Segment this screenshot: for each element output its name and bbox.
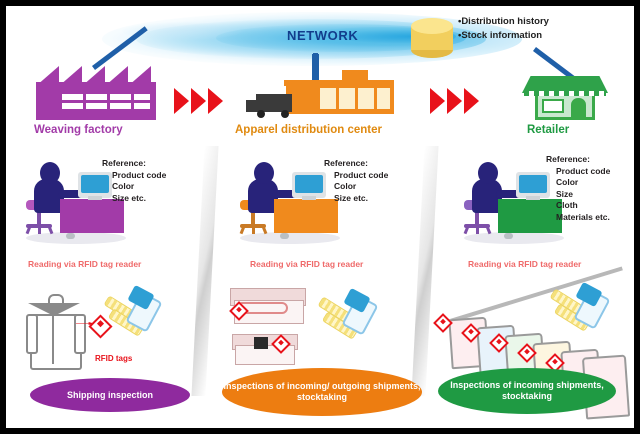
- network-note-1: •Stock information: [458, 29, 549, 43]
- reference-item: Color: [556, 177, 610, 189]
- database-cylinder-icon: [411, 18, 453, 56]
- pill-label: Inspections of incoming shipments, stock…: [438, 380, 616, 402]
- pill-inspections-incoming: Inspections of incoming shipments, stock…: [438, 368, 616, 414]
- image-frame: NETWORK •Distribution history •Stock inf…: [0, 0, 640, 434]
- node-label-weaving-factory: Weaving factory: [34, 124, 123, 136]
- rfid-reader-icon-1: [106, 289, 166, 339]
- reference-heading: Reference:: [324, 158, 388, 170]
- warehouse-truck-icon: [256, 66, 396, 121]
- reference-item: Size etc.: [112, 193, 166, 205]
- pill-label: Inspections of incoming/ outgoing shipme…: [222, 381, 422, 403]
- flow-arrows-1: [174, 88, 223, 114]
- pill-label: Shipping inspection: [67, 390, 153, 401]
- network-notes: •Distribution history •Stock information: [458, 15, 549, 43]
- rfid-reader-icon-2: [322, 292, 382, 342]
- network-label: NETWORK: [287, 28, 358, 43]
- column-divider-1: [191, 146, 218, 396]
- reference-item: Product code: [556, 166, 610, 178]
- reference-list-apparel-distribution-center: Reference: Product code Color Size etc.: [324, 158, 388, 204]
- diagram-canvas: NETWORK •Distribution history •Stock inf…: [6, 6, 634, 428]
- pill-inspections-incoming-outgoing: Inspections of incoming/ outgoing shipme…: [222, 368, 422, 416]
- network-note-0: •Distribution history: [458, 15, 549, 29]
- factory-icon: [36, 68, 156, 120]
- reading-label-retailer: Reading via RFID tag reader: [468, 259, 581, 269]
- pill-shipping-inspection: Shipping inspection: [30, 378, 190, 412]
- reading-label-weaving-factory: Reading via RFID tag reader: [28, 259, 141, 269]
- reference-list-weaving-factory: Reference: Product code Color Size etc.: [102, 158, 166, 204]
- reference-item: Size etc.: [334, 193, 388, 205]
- rfid-reader-icon-3: [554, 286, 614, 336]
- reference-heading: Reference:: [102, 158, 166, 170]
- reference-item: Product code: [112, 170, 166, 182]
- reference-item: Product code: [334, 170, 388, 182]
- reference-list-retailer: Reference: Product code Color Size Cloth…: [546, 154, 610, 223]
- reference-item: Materials etc.: [556, 212, 610, 224]
- reference-item: Color: [112, 181, 166, 193]
- shop-icon: [522, 68, 608, 120]
- reference-item: Cloth: [556, 200, 610, 212]
- flow-arrows-2: [430, 88, 479, 114]
- reference-item: Color: [334, 181, 388, 193]
- node-label-apparel-distribution-center: Apparel distribution center: [235, 124, 382, 136]
- reference-heading: Reference:: [546, 154, 610, 166]
- reading-label-apparel-distribution-center: Reading via RFID tag reader: [250, 259, 363, 269]
- node-label-retailer: Retailer: [527, 124, 569, 136]
- rfid-tags-label: RFID tags: [95, 354, 132, 363]
- reference-item: Size: [556, 189, 610, 201]
